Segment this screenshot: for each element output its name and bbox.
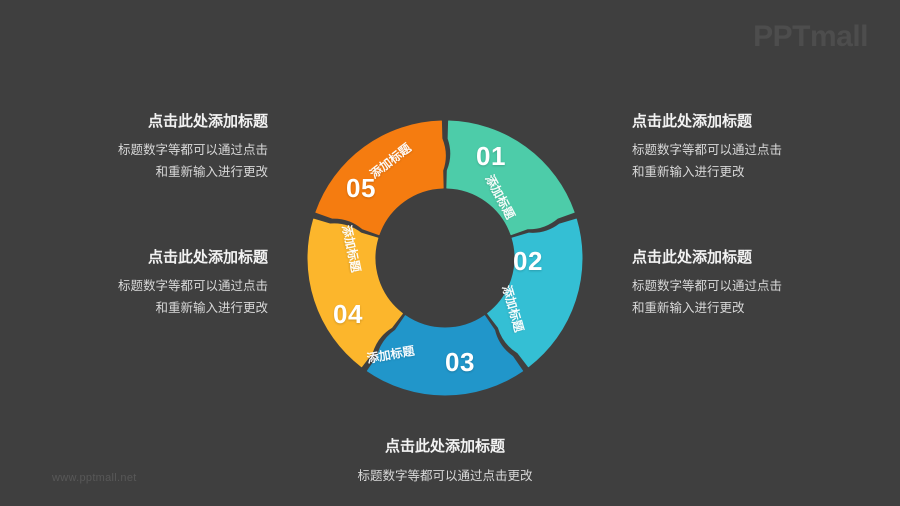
segment-number-04: 04 [333, 301, 363, 327]
text-block-top-right: 点击此处添加标题 标题数字等都可以通过点击 和重新输入进行更改 [632, 112, 877, 184]
text-block-bottom-center: 点击此处添加标题 标题数字等都可以通过点击更改 [300, 437, 590, 488]
text-block-line-1: 标题数字等都可以通过点击 [632, 276, 877, 298]
text-block-line-1: 标题数字等都可以通过点击更改 [300, 466, 590, 488]
text-block-title: 点击此处添加标题 [28, 248, 268, 268]
text-block-bottom-left: 点击此处添加标题 标题数字等都可以通过点击 和重新输入进行更改 [28, 248, 268, 320]
segment-number-03: 03 [445, 349, 475, 375]
brand-logo-ppt: PPT [753, 20, 810, 53]
footer-url: www.pptmall.net [52, 472, 137, 484]
text-block-title: 点击此处添加标题 [632, 248, 877, 268]
text-block-bottom-right: 点击此处添加标题 标题数字等都可以通过点击 和重新输入进行更改 [632, 248, 877, 320]
donut-segment-05[interactable] [316, 121, 446, 235]
text-block-line-2: 和重新输入进行更改 [28, 298, 268, 320]
text-block-line-1: 标题数字等都可以通过点击 [28, 140, 268, 162]
text-block-title: 点击此处添加标题 [28, 112, 268, 132]
text-block-title: 点击此处添加标题 [632, 112, 877, 132]
segment-number-01: 01 [476, 143, 506, 169]
text-block-title: 点击此处添加标题 [300, 437, 590, 457]
segment-number-05: 05 [346, 175, 376, 201]
text-block-line-2: 和重新输入进行更改 [632, 298, 877, 320]
brand-logo: PPTmall [753, 22, 868, 52]
text-block-line-1: 标题数字等都可以通过点击 [632, 140, 877, 162]
brand-logo-mall: mall [810, 20, 868, 53]
text-block-line-2: 和重新输入进行更改 [632, 162, 877, 184]
text-block-top-left: 点击此处添加标题 标题数字等都可以通过点击 和重新输入进行更改 [28, 112, 268, 184]
segment-number-02: 02 [513, 248, 543, 274]
cycle-donut-diagram: 01 添加标题 02 添加标题 03 添加标题 04 添加标题 05 添加标题 [308, 121, 582, 395]
text-block-line-2: 和重新输入进行更改 [28, 162, 268, 184]
text-block-line-1: 标题数字等都可以通过点击 [28, 276, 268, 298]
